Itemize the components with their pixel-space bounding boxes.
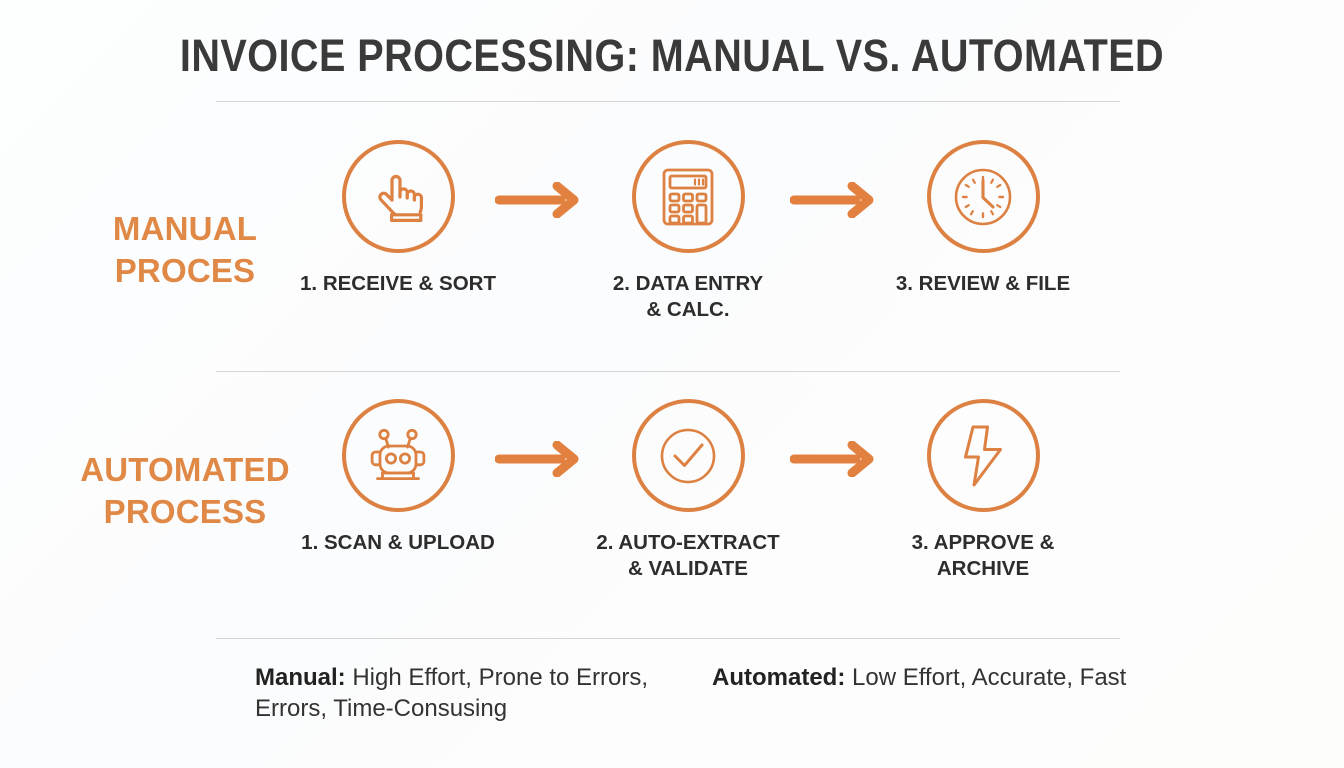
clock-icon xyxy=(950,164,1016,230)
divider-top xyxy=(216,101,1120,102)
step-caption: 1. RECEIVE & SORT xyxy=(283,271,513,297)
step-caption: 2. AUTO-EXTRACT & VALIDATE xyxy=(573,530,803,582)
step-automated-2: 2. AUTO-EXTRACT & VALIDATE xyxy=(573,399,803,582)
step-automated-1: 1. SCAN & UPLOAD xyxy=(283,399,513,556)
step-manual-1: 1. RECEIVE & SORT xyxy=(283,140,513,297)
pointing-hand-icon xyxy=(367,166,429,228)
step-caption: 3. APPROVE & ARCHIVE xyxy=(868,530,1098,582)
arrow-automated-2 xyxy=(790,441,880,477)
check-circle-icon xyxy=(655,423,721,489)
step-caption: 3. REVIEW & FILE xyxy=(868,271,1098,297)
icon-ring-automated-1 xyxy=(342,399,455,512)
step-caption: 2. DATA ENTRY & CALC. xyxy=(573,271,803,323)
step-automated-3: 3. APPROVE & ARCHIVE xyxy=(868,399,1098,582)
process-row-automated: AUTOMATED PROCESS xyxy=(0,399,1344,619)
calculator-icon xyxy=(659,166,717,228)
summary-automated-label: Automated: xyxy=(712,664,845,691)
arrow-manual-1 xyxy=(495,182,585,218)
icon-ring-manual-2 xyxy=(632,140,745,253)
step-caption: 1. SCAN & UPLOAD xyxy=(283,530,513,556)
icon-ring-manual-3 xyxy=(927,140,1040,253)
step-manual-2: 2. DATA ENTRY & CALC. xyxy=(573,140,803,323)
arrow-automated-1 xyxy=(495,441,585,477)
icon-ring-manual-1 xyxy=(342,140,455,253)
row-label-automated: AUTOMATED PROCESS xyxy=(60,449,310,533)
infographic-canvas: INVOICE PROCESSING: MANUAL VS. AUTOMATED… xyxy=(0,0,1344,768)
divider-bottom xyxy=(216,638,1120,639)
summary-manual: Manual: High Effort, Prone to Errors, Er… xyxy=(255,662,675,724)
step-manual-3: 3. REVIEW & FILE xyxy=(868,140,1098,297)
summary-automated-text: Low Effort, Accurate, Fast xyxy=(845,664,1126,691)
divider-middle xyxy=(216,371,1120,372)
icon-ring-automated-2 xyxy=(632,399,745,512)
summary-automated: Automated: Low Effort, Accurate, Fast xyxy=(712,662,1142,693)
icon-ring-automated-3 xyxy=(927,399,1040,512)
process-row-manual: MANUAL PROCES 1. RECEIVE & SORT xyxy=(0,140,1344,360)
arrow-manual-2 xyxy=(790,182,880,218)
page-title: INVOICE PROCESSING: MANUAL VS. AUTOMATED xyxy=(81,30,1264,82)
robot-icon xyxy=(366,427,430,485)
row-label-manual: MANUAL PROCES xyxy=(60,208,310,292)
summary-manual-label: Manual: xyxy=(255,664,346,691)
lightning-bolt-icon xyxy=(960,424,1006,488)
